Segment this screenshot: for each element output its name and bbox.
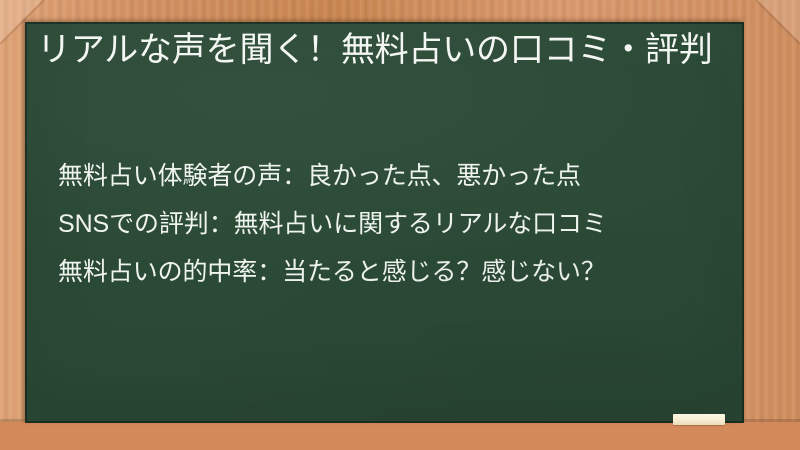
frame-corner-top-right xyxy=(756,0,800,44)
list-item: 無料占い体験者の声：良かった点、悪かった点 xyxy=(58,152,733,200)
slide-canvas: リアルな声を聞く！無料占いの口コミ・評判 無料占い体験者の声：良かった点、悪かっ… xyxy=(0,0,800,450)
list-item: SNSでの評判：無料占いに関するリアルな口コミ xyxy=(58,200,733,248)
slide-title: リアルな声を聞く！無料占いの口コミ・評判 xyxy=(37,28,727,73)
list-item: 無料占いの的中率：当たると感じる？感じない？ xyxy=(58,248,733,296)
chalkboard: リアルな声を聞く！無料占いの口コミ・評判 無料占い体験者の声：良かった点、悪かっ… xyxy=(25,22,744,423)
slide-bullet-list: 無料占い体験者の声：良かった点、悪かった点 SNSでの評判：無料占いに関するリア… xyxy=(58,152,733,296)
chalk-stick xyxy=(673,414,725,425)
frame-bottom-rail xyxy=(0,422,800,450)
